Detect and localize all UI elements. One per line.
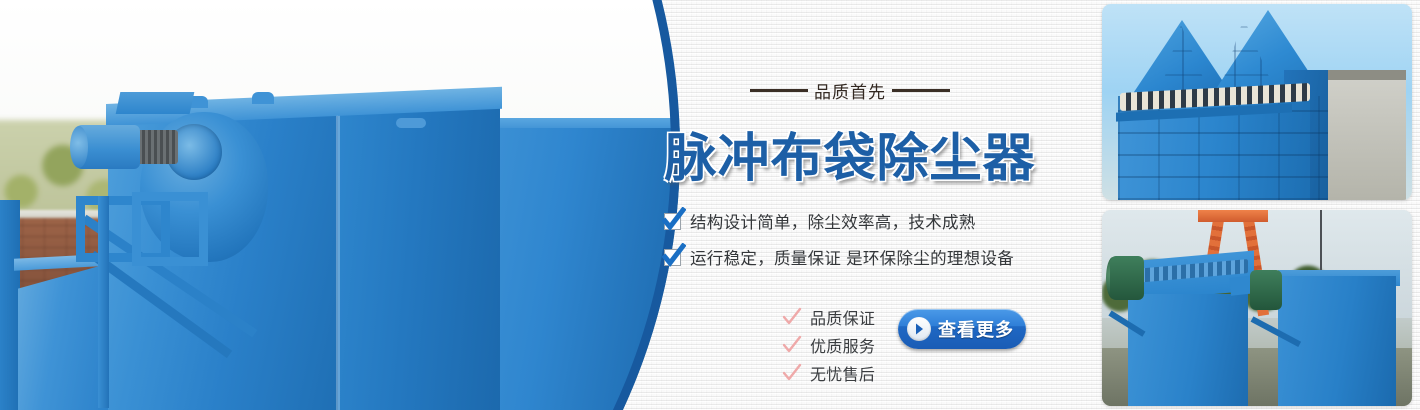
guarantee-label: 品质保证 [810, 305, 875, 329]
check-tick-icon [782, 363, 802, 383]
motor-shaft [136, 130, 178, 164]
guarantee-item: 优质服务 [782, 331, 875, 359]
view-more-button[interactable]: 查看更多 [898, 309, 1026, 349]
guarantee-label: 无忧售后 [810, 361, 875, 385]
dust-collector-photo [0, 0, 680, 410]
arrow-right-circle-icon [907, 317, 931, 341]
guarantee-label: 优质服务 [810, 333, 875, 357]
view-more-label: 查看更多 [938, 316, 1014, 342]
page-title: 脉冲布袋除尘器 [640, 116, 1060, 191]
crane-head [1198, 210, 1268, 222]
eyebrow: 品质首先 [640, 78, 1060, 103]
eyebrow-rule-left [750, 89, 808, 92]
banner-text-column: 品质首先 脉冲布袋除尘器 结构设计简单，除尘效率高，技术成熟 运行稳 [640, 0, 1060, 410]
check-tick-icon [782, 335, 802, 355]
eyebrow-label: 品质首先 [814, 78, 886, 103]
guarantee-item: 无忧售后 [782, 359, 875, 387]
feature-label: 运行稳定，质量保证 是环保除尘的理想设备 [690, 245, 1014, 269]
site-install-photo[interactable] [1102, 210, 1412, 406]
lid-handle-2 [252, 92, 274, 104]
collector-front-face [338, 100, 500, 410]
left-side-panel [0, 200, 20, 410]
promo-banner: 品质首先 脉冲布袋除尘器 结构设计简单，除尘效率高，技术成熟 运行稳 [0, 0, 1420, 410]
hero-photo-clip [0, 0, 680, 410]
unit-a-fan-housing [1110, 256, 1144, 300]
fan-outlet-duct [116, 92, 195, 114]
warehouse-wall [1320, 80, 1406, 200]
lid-handle-3 [396, 118, 426, 128]
support-frame-right [132, 192, 208, 266]
feature-list: 结构设计简单，除尘效率高，技术成熟 运行稳定，质量保证 是环保除尘的理想设备 [664, 203, 1064, 275]
collector-corner-edge [336, 104, 340, 410]
unit-a-body [1128, 294, 1248, 406]
support-post [98, 196, 109, 408]
thumbnail-gallery [1102, 4, 1412, 406]
guarantee-list: 品质保证 优质服务 无忧售后 [782, 303, 875, 387]
guarantee-item: 品质保证 [782, 303, 875, 331]
checkbox-checked-icon [664, 213, 681, 230]
feature-item: 结构设计简单，除尘效率高，技术成熟 [664, 203, 1064, 239]
checkbox-checked-icon [664, 249, 681, 266]
feature-label: 结构设计简单，除尘效率高，技术成熟 [690, 209, 976, 233]
check-tick-icon [782, 307, 802, 327]
feature-item: 运行稳定，质量保证 是环保除尘的理想设备 [664, 239, 1064, 275]
hero-photo [0, 0, 720, 410]
unit-b-fan-housing [1250, 270, 1282, 310]
eyebrow-rule-right [892, 89, 950, 92]
motor-end-cap [70, 126, 88, 168]
baghouse-photo[interactable] [1102, 4, 1412, 200]
